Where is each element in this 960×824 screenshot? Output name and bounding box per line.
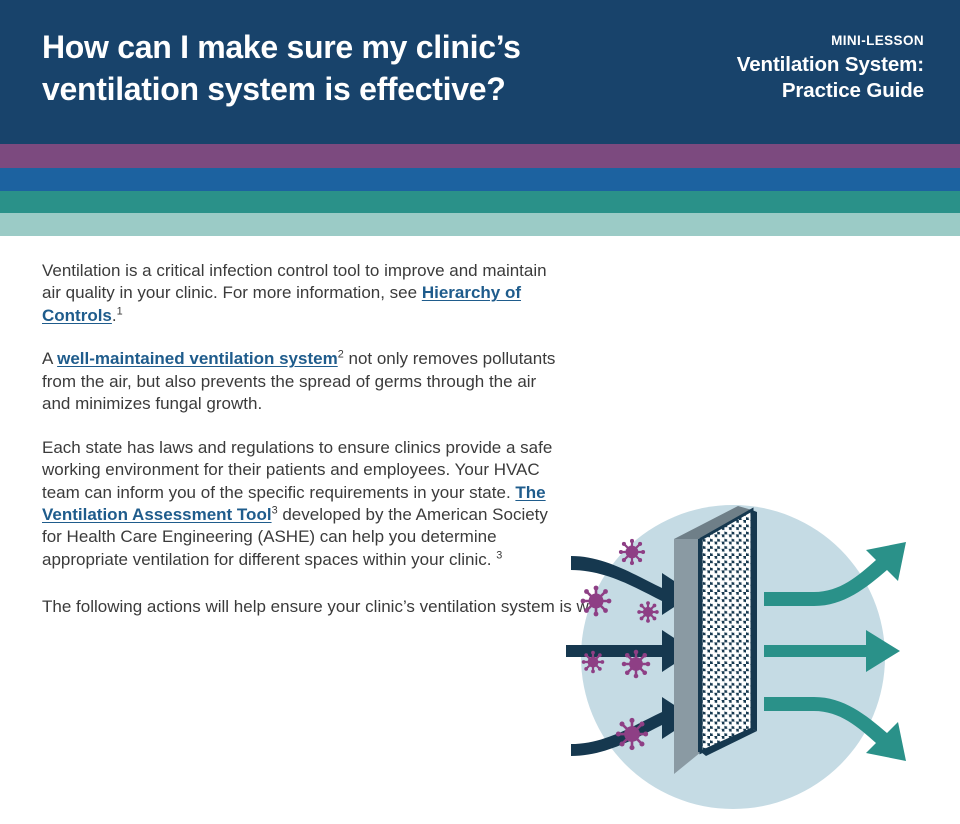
filter-right-edge (752, 510, 757, 731)
color-stripe-band (0, 144, 960, 236)
paragraph-2: A well-maintained ventilation system2 no… (42, 348, 562, 415)
stripe-mint (0, 213, 960, 236)
lesson-subtitle-line2: Practice Guide (624, 78, 924, 104)
germ-icon (619, 539, 645, 565)
germ-icon (622, 650, 651, 679)
link-well-maintained-ventilation-system[interactable]: well-maintained ventilation system (57, 349, 338, 368)
germ-icon (616, 718, 648, 750)
content-area: Ventilation is a critical infection cont… (0, 236, 960, 640)
lesson-kicker: MINI-LESSON (624, 33, 924, 49)
filter-mesh-face (701, 510, 752, 752)
paragraph-3-text-before: Each state has laws and regulations to e… (42, 438, 552, 502)
filter-side-face (674, 539, 701, 774)
air-filter-illustration (566, 484, 906, 824)
germ-icon (581, 586, 612, 617)
page-root: How can I make sure my clinic’s ventilat… (0, 0, 960, 640)
page-title: How can I make sure my clinic’s ventilat… (42, 26, 642, 110)
lesson-subtitle-line1: Ventilation System: (624, 52, 924, 78)
header-banner: How can I make sure my clinic’s ventilat… (0, 0, 960, 144)
germ-icon (582, 651, 604, 673)
germ-icon (637, 601, 658, 622)
paragraph-2-text-before: A (42, 349, 57, 368)
footnote-marker-3-end: 3 (496, 549, 502, 561)
footnote-marker-1: 1 (117, 305, 123, 317)
stripe-purple (0, 144, 960, 168)
stripe-blue (0, 168, 960, 191)
air-filter-panel (674, 506, 757, 774)
filter-left-seam (698, 539, 702, 752)
lesson-subtitle: Ventilation System: Practice Guide (624, 52, 924, 104)
stripe-teal (0, 191, 960, 213)
text-column: Ventilation is a critical infection cont… (42, 260, 562, 571)
paragraph-3: Each state has laws and regulations to e… (42, 437, 562, 572)
paragraph-1: Ventilation is a critical infection cont… (42, 260, 562, 327)
header-meta-block: MINI-LESSON Ventilation System: Practice… (624, 33, 924, 105)
